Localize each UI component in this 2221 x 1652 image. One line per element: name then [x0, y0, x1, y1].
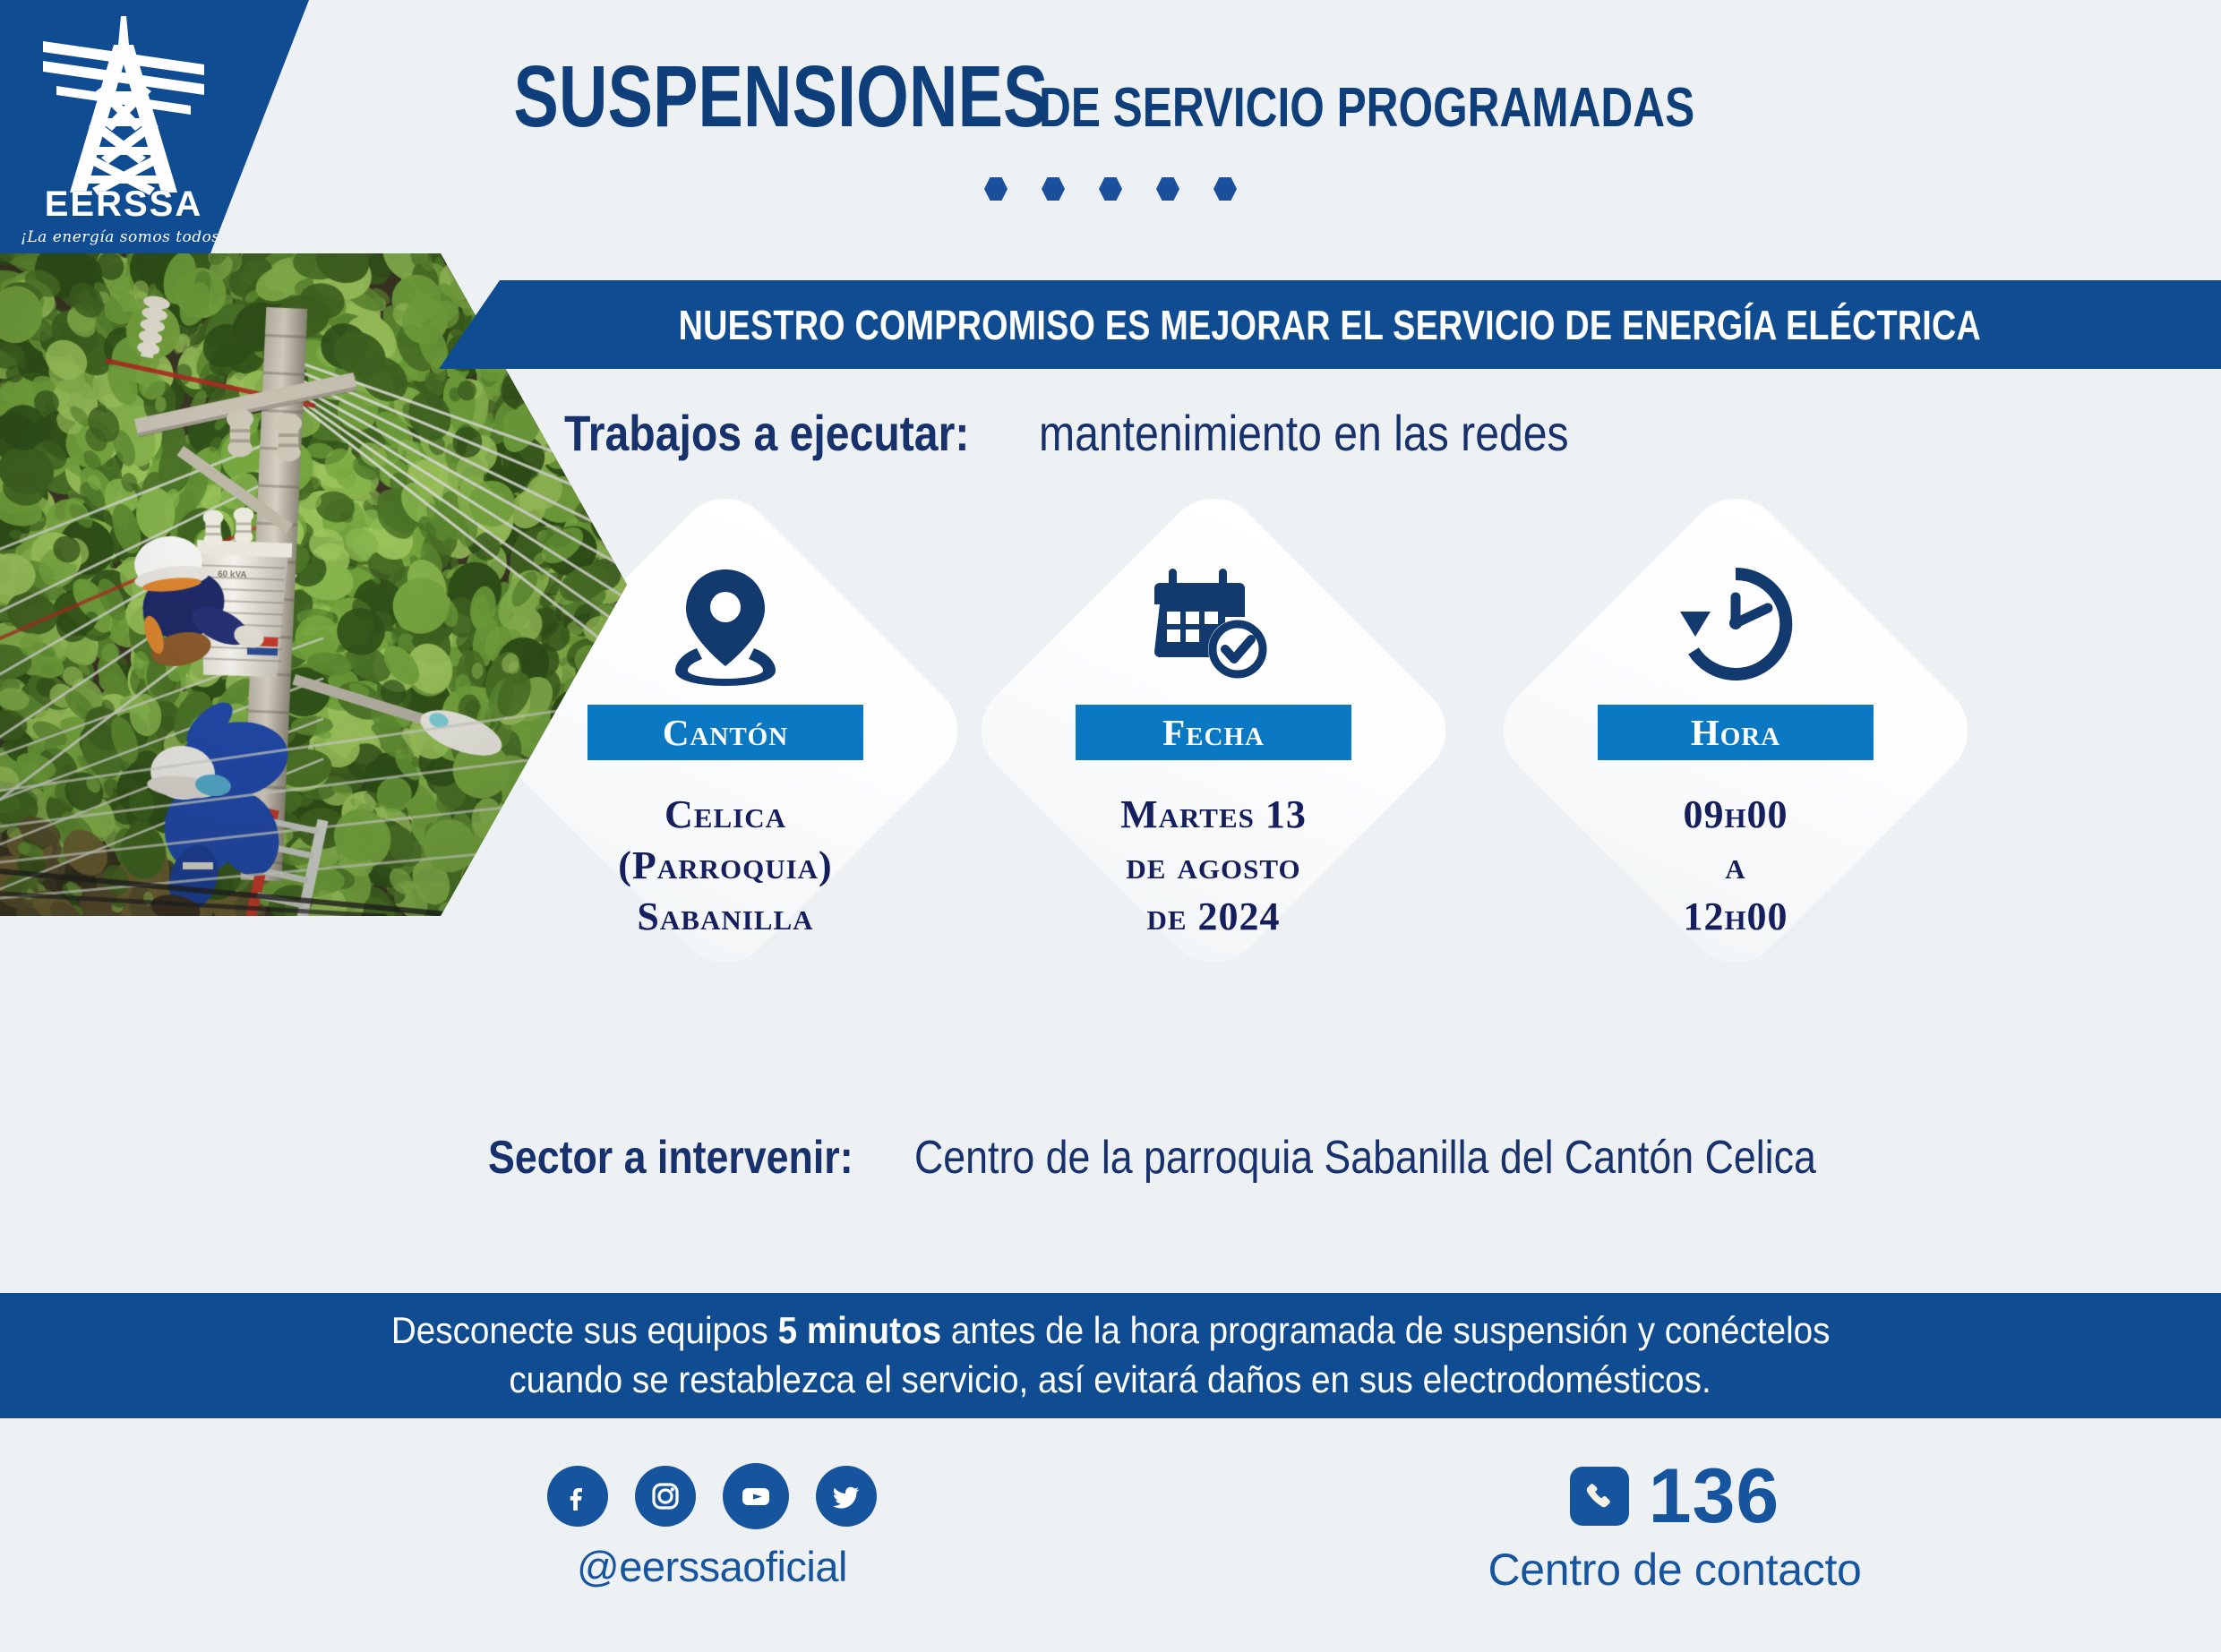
social-block: @eerssaoficial — [524, 1463, 900, 1591]
youtube-icon[interactable] — [723, 1463, 789, 1529]
works-value: mantenimiento en las redes — [1039, 404, 1569, 462]
title-strong: SUSPENSIONES — [513, 47, 1048, 147]
page-header: SUSPENSIONESDE SERVICIO PROGRAMADAS — [0, 0, 2221, 269]
social-handle[interactable]: @eerssaoficial — [577, 1542, 847, 1591]
twitter-icon[interactable] — [816, 1466, 877, 1527]
contact-label: Centro de contacto — [1488, 1544, 1861, 1596]
card-badge-fecha: Fecha — [1076, 705, 1351, 760]
notice-line-2: cuando se restablezca el servicio, así e… — [510, 1356, 1711, 1405]
logo-wordmark: EERSSA — [45, 184, 203, 225]
commitment-banner-text: NUESTRO COMPROMISO ES MEJORAR EL SERVICI… — [679, 301, 1981, 349]
title-rest: DE SERVICIO PROGRAMADAS — [1039, 76, 1694, 140]
safety-notice-bar: Desconecte sus equipos 5 minutos antes d… — [0, 1293, 2221, 1418]
title-dots-decoration — [0, 177, 2221, 201]
sector-value: Centro de la parroquia Sabanilla del Can… — [914, 1131, 1816, 1185]
card-text-fecha: Martes 13 de agosto de 2024 — [1120, 789, 1307, 943]
contact-number-row: 136 — [1570, 1458, 1780, 1535]
hex-dot-icon — [1213, 177, 1237, 201]
hex-dot-icon — [1156, 177, 1179, 201]
sector-row: Sector a intervenir: Centro de la parroq… — [488, 1126, 2190, 1189]
notice-line-1: Desconecte sus equipos 5 minutos antes d… — [391, 1306, 1831, 1356]
hex-dot-icon — [1042, 177, 1065, 201]
card-text-canton: Celica (Parroquia) Sabanilla — [618, 789, 832, 943]
sector-label: Sector a intervenir: — [488, 1131, 853, 1185]
page-title: SUSPENSIONESDE SERVICIO PROGRAMADAS — [0, 47, 2221, 147]
card-badge-canton: Cantón — [587, 705, 863, 760]
calendar-check-icon — [1154, 558, 1273, 692]
hex-dot-icon — [1099, 177, 1122, 201]
hex-dot-icon — [984, 177, 1008, 201]
card-text-hora: 09h00 a 12h00 — [1683, 789, 1788, 943]
social-icons-row — [547, 1463, 877, 1529]
card-badge-hora: Hora — [1598, 705, 1874, 760]
info-card-hora: Hora 09h00 a 12h00 — [1548, 515, 1924, 1034]
instagram-icon[interactable] — [635, 1466, 696, 1527]
page-footer: @eerssaoficial 136 Centro de contacto — [0, 1433, 2221, 1652]
logo-tagline: ¡La energía somos todos! — [21, 228, 227, 246]
facebook-icon[interactable] — [547, 1466, 608, 1527]
contact-phone-number: 136 — [1649, 1458, 1780, 1535]
info-card-fecha: Fecha Martes 13 de agosto de 2024 — [1025, 515, 1402, 1034]
works-label: Trabajos a ejecutar: — [564, 404, 969, 462]
info-cards: Cantón Celica (Parroquia) Sabanilla — [537, 515, 2114, 1034]
commitment-banner: NUESTRO COMPROMISO ES MEJORAR EL SERVICI… — [439, 280, 2221, 369]
contact-block: 136 Centro de contacto — [1397, 1458, 1952, 1596]
eerssa-logo-badge: EERSSA ¡La energía somos todos! — [0, 0, 309, 253]
phone-icon — [1570, 1467, 1629, 1526]
clock-restore-icon — [1675, 558, 1797, 692]
works-to-execute-row: Trabajos a ejecutar: mantenimiento en la… — [564, 401, 1997, 464]
location-pin-icon — [672, 558, 779, 692]
